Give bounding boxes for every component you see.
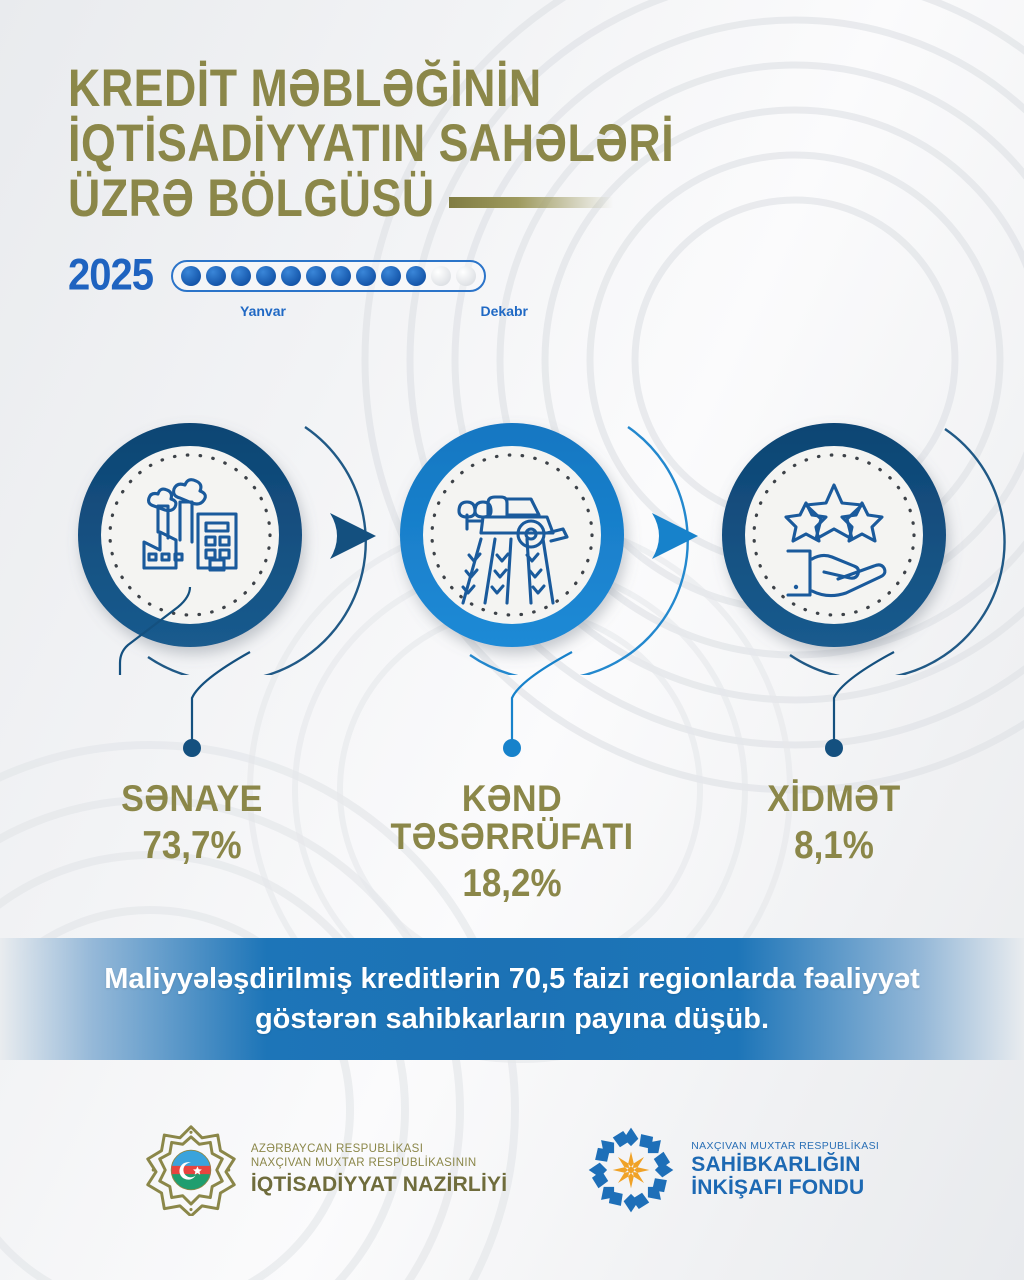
ministry-of-economy-logo[interactable]: AZƏRBAYCAN RESPUBLİKASI NAXÇIVAN MUXTAR … [145,1124,507,1216]
azerbaijan-star-emblem-icon [145,1124,237,1216]
month-dot-9 [381,266,401,286]
page-title-line-3-row: ÜZRƏ BÖLGÜSÜ [68,172,651,227]
connector-dot-3 [825,739,843,757]
month-dot-12 [456,266,476,286]
ministry-logo-text: AZƏRBAYCAN RESPUBLİKASI NAXÇIVAN MUXTAR … [251,1142,507,1198]
blue-star-burst-emblem-icon [585,1124,677,1216]
flow-arrow-1-icon [330,513,376,559]
entrepreneurship-development-fund-logo[interactable]: NAXÇIVAN MUXTAR RESPUBLİKASI SAHİBKARLIĞ… [585,1124,879,1216]
header: KREDİT MƏBLƏĞİNİN İQTİSADİYYATIN SAHƏLƏR… [68,62,651,319]
sector-name-agriculture-1: KƏND [362,778,662,820]
sector-label-services: XİDMƏT 8,1% [684,778,984,864]
month-dot-6 [306,266,326,286]
sector-name-services: XİDMƏT [684,778,984,820]
sector-name-industry: SƏNAYE [42,778,342,820]
month-start-label: Yanvar [240,303,286,319]
sector-percent-services: 8,1% [684,824,984,868]
ministry-line-1: AZƏRBAYCAN RESPUBLİKASI [251,1142,507,1156]
sector-label-agriculture: KƏND TƏSƏRRÜFATI 18,2% [362,778,662,902]
highlight-banner: Maliyyələşdirilmiş kreditlərin 70,5 faiz… [0,938,1024,1060]
fund-line-2: SAHİBKARLIĞIN [691,1153,879,1177]
fund-logo-text: NAXÇIVAN MUXTAR RESPUBLİKASI SAHİBKARLIĞ… [691,1140,879,1200]
gold-accent-dash [449,197,613,208]
year-label: 2025 [68,250,153,300]
month-dot-7 [331,266,351,286]
ministry-line-3: İQTİSADİYYAT NAZİRLİYİ [251,1172,507,1198]
month-dot-1 [181,266,201,286]
sector-label-industry: SƏNAYE 73,7% [42,778,342,864]
month-range-labels: Yanvar Dekabr [240,303,528,319]
connector-dot-1 [183,739,201,757]
sector-icon-circles [0,405,1024,675]
month-end-label: Dekabr [481,303,528,319]
year-progress-row: 2025 [68,253,651,298]
month-dot-11 [431,266,451,286]
sector-percent-agriculture: 18,2% [362,862,662,906]
footer-logos: AZƏRBAYCAN RESPUBLİKASI NAXÇIVAN MUXTAR … [0,1095,1024,1245]
months-progress-indicator[interactable] [171,260,486,292]
highlight-banner-text: Maliyyələşdirilmiş kreditlərin 70,5 faiz… [97,959,927,1039]
ministry-line-2: NAXÇIVAN MUXTAR RESPUBLİKASININ [251,1156,507,1170]
month-dot-3 [231,266,251,286]
connector-dot-2 [503,739,521,757]
flow-arrow-2-icon [652,513,698,559]
sector-name-agriculture-2: TƏSƏRRÜFATI [362,816,662,858]
month-dot-5 [281,266,301,286]
month-dot-8 [356,266,376,286]
sector-percent-industry: 73,7% [42,824,342,868]
month-dot-4 [256,266,276,286]
month-dot-10 [406,266,426,286]
page-title-line-3: ÜZRƏ BÖLGÜSÜ [68,166,435,233]
fund-line-3: İNKİŞAFI FONDU [691,1176,879,1200]
month-dot-2 [206,266,226,286]
fund-line-1: NAXÇIVAN MUXTAR RESPUBLİKASI [691,1140,879,1153]
